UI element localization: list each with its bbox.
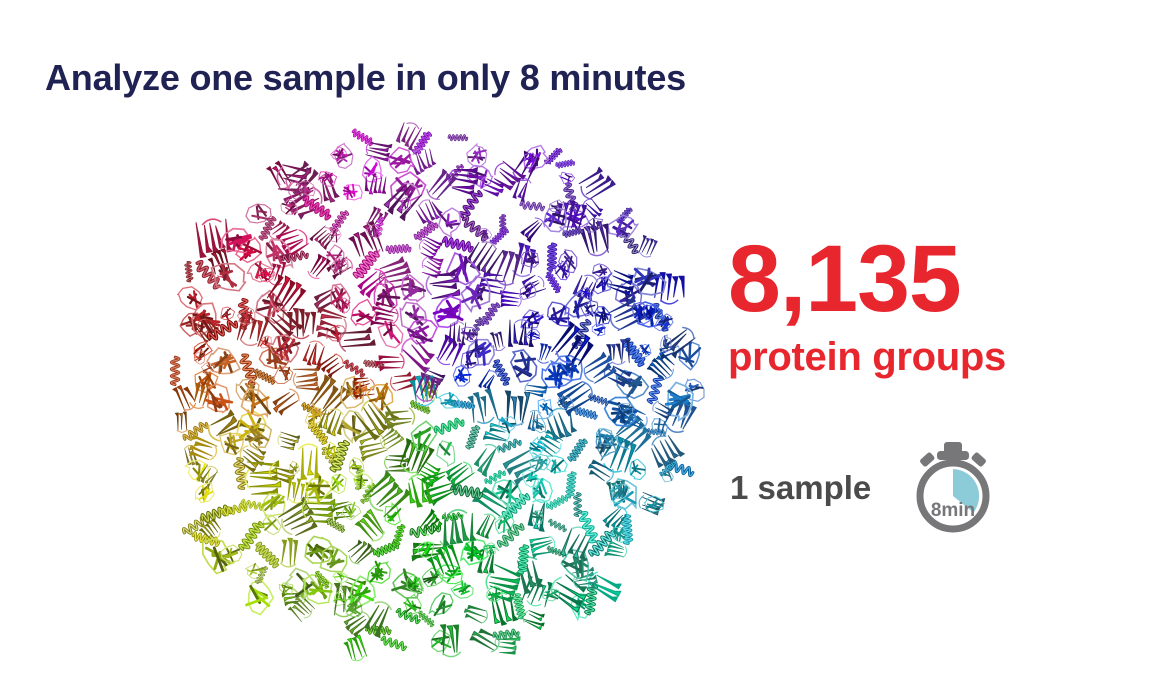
protein-group-count: 8,135	[728, 232, 1128, 327]
page-title: Analyze one sample in only 8 minutes	[45, 57, 686, 99]
stopwatch-duration-label: 8min	[931, 500, 975, 521]
stats-block: 8,135 protein groups	[728, 232, 1128, 380]
sample-row: 1 sample 8min	[730, 440, 999, 536]
protein-circle-figure	[150, 120, 710, 666]
stopwatch-icon: 8min	[907, 440, 999, 536]
sample-count-label: 1 sample	[730, 469, 871, 507]
infographic-page: Analyze one sample in only 8 minutes 8,1…	[0, 0, 1160, 700]
protein-group-caption: protein groups	[728, 335, 1128, 380]
